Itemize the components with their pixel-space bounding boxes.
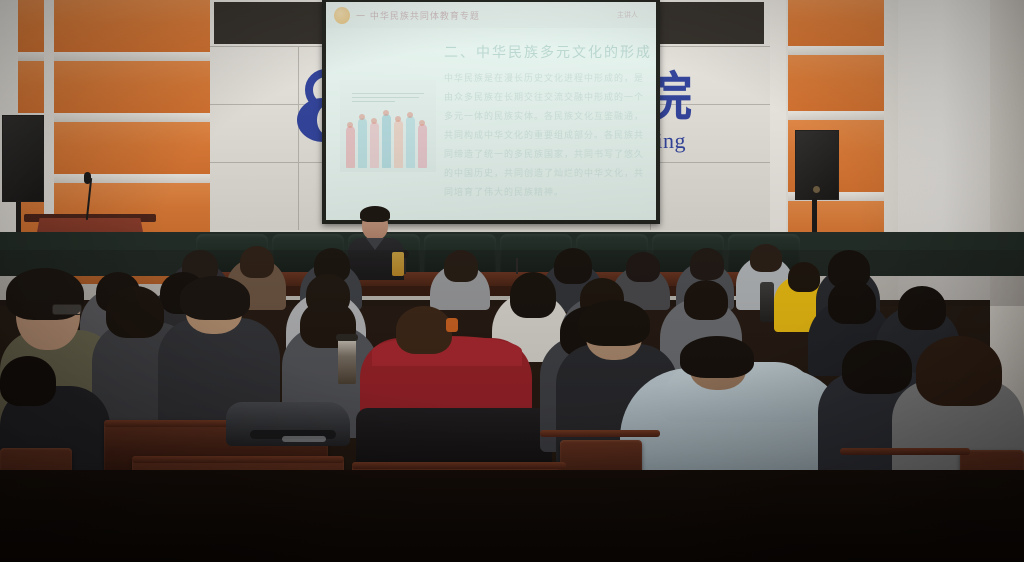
hair-clip bbox=[446, 318, 458, 332]
lecture-hall-photo: 院 eering 一 中华民族共同体教育专题 主讲人 二、中华民族多元文化的形成… bbox=[0, 0, 1024, 562]
projection-screen: 一 中华民族共同体教育专题 主讲人 二、中华民族多元文化的形成 中华民族是在漫长… bbox=[326, 2, 656, 220]
slide-body-text: 中华民族是在漫长历史文化进程中形成的，是由众多民族在长期交往交流交融中形成的一个… bbox=[444, 70, 644, 203]
thermos-lid bbox=[336, 334, 358, 341]
slide-header-text-right: 主讲人 bbox=[617, 10, 638, 20]
slide-illustration-caption-lines bbox=[352, 93, 425, 105]
presenter-hair bbox=[360, 206, 390, 222]
chair-rail bbox=[352, 462, 566, 469]
loudspeaker-left bbox=[2, 115, 44, 202]
backpack-zip bbox=[282, 436, 326, 442]
eyeglasses-icon bbox=[52, 304, 82, 315]
signage-dark-band-left bbox=[214, 2, 326, 44]
loudspeaker-right-driver bbox=[813, 186, 820, 193]
chair-rail bbox=[132, 456, 344, 463]
foreground-shadow bbox=[0, 470, 1024, 562]
slide-title: 二、中华民族多元文化的形成 bbox=[444, 42, 652, 62]
chair-rail bbox=[840, 448, 970, 455]
signage-dark-band-right bbox=[652, 2, 764, 44]
slide-illustration bbox=[340, 80, 436, 172]
thermos-flask bbox=[338, 338, 356, 384]
podium-microphone-icon bbox=[84, 172, 91, 184]
slide-header-text: 一 中华民族共同体教育专题 bbox=[356, 9, 480, 22]
chair-rail bbox=[540, 430, 660, 437]
thermos-flask bbox=[760, 282, 774, 322]
slide-logo-icon bbox=[334, 7, 350, 24]
